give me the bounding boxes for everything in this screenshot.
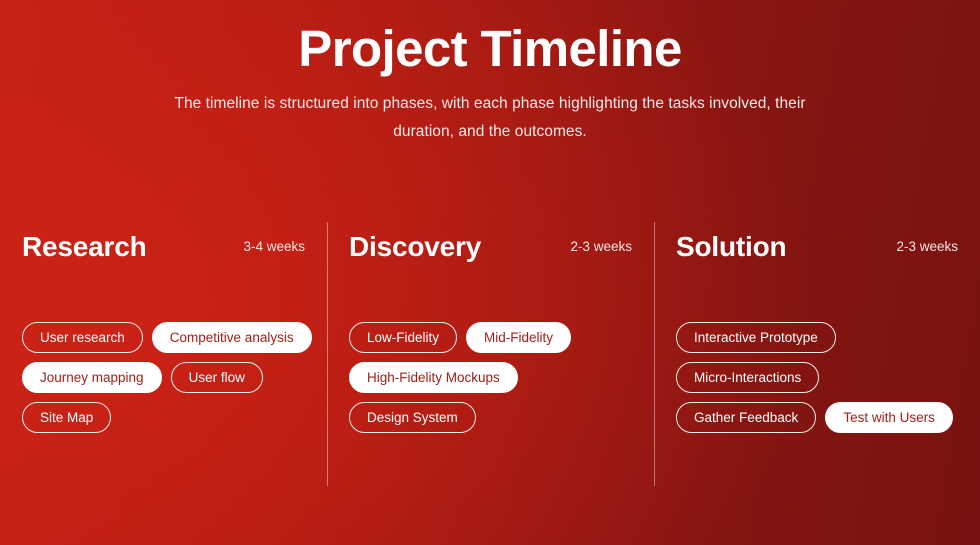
column-divider bbox=[327, 222, 328, 486]
timeline-canvas: Project Timeline The timeline is structu… bbox=[0, 0, 980, 545]
phase-header: Research3-4 weeks bbox=[22, 230, 305, 264]
task-tag-list: Low-FidelityMid-FidelityHigh-Fidelity Mo… bbox=[349, 322, 644, 442]
phase-column-research: Research3-4 weeksUser researchCompetitiv… bbox=[0, 206, 327, 481]
task-tag-row: High-Fidelity Mockups bbox=[349, 362, 644, 393]
task-tag-micro-interactions[interactable]: Micro-Interactions bbox=[676, 362, 819, 393]
task-tag-row: Gather FeedbackTest with Users bbox=[676, 402, 970, 433]
task-tag-list: Interactive PrototypeMicro-InteractionsG… bbox=[676, 322, 970, 442]
task-tag-high-fidelity-mockups[interactable]: High-Fidelity Mockups bbox=[349, 362, 518, 393]
task-tag-journey-mapping[interactable]: Journey mapping bbox=[22, 362, 162, 393]
task-tag-low-fidelity[interactable]: Low-Fidelity bbox=[349, 322, 457, 353]
phase-duration: 2-3 weeks bbox=[570, 237, 632, 257]
task-tag-mid-fidelity[interactable]: Mid-Fidelity bbox=[466, 322, 571, 353]
phase-title: Research bbox=[22, 230, 146, 264]
task-tag-test-with-users[interactable]: Test with Users bbox=[825, 402, 953, 433]
phase-header: Solution2-3 weeks bbox=[676, 230, 958, 264]
phase-duration: 2-3 weeks bbox=[896, 237, 958, 257]
phase-header: Discovery2-3 weeks bbox=[349, 230, 632, 264]
phase-duration: 3-4 weeks bbox=[243, 237, 305, 257]
task-tag-row: Interactive Prototype bbox=[676, 322, 970, 353]
task-tag-user-research[interactable]: User research bbox=[22, 322, 143, 353]
task-tag-gather-feedback[interactable]: Gather Feedback bbox=[676, 402, 816, 433]
task-tag-user-flow[interactable]: User flow bbox=[171, 362, 263, 393]
phase-title: Solution bbox=[676, 230, 786, 264]
page-header: Project Timeline The timeline is structu… bbox=[0, 0, 980, 145]
column-divider bbox=[654, 222, 655, 486]
task-tag-row: Design System bbox=[349, 402, 644, 433]
task-tag-row: Low-FidelityMid-Fidelity bbox=[349, 322, 644, 353]
task-tag-site-map[interactable]: Site Map bbox=[22, 402, 111, 433]
page-subtitle: The timeline is structured into phases, … bbox=[145, 77, 835, 145]
phase-title: Discovery bbox=[349, 230, 481, 264]
task-tag-design-system[interactable]: Design System bbox=[349, 402, 476, 433]
phase-column-discovery: Discovery2-3 weeksLow-FidelityMid-Fideli… bbox=[327, 206, 654, 481]
task-tag-list: User researchCompetitive analysisJourney… bbox=[22, 322, 317, 442]
task-tag-interactive-prototype[interactable]: Interactive Prototype bbox=[676, 322, 836, 353]
task-tag-row: User researchCompetitive analysis bbox=[22, 322, 317, 353]
task-tag-row: Micro-Interactions bbox=[676, 362, 970, 393]
task-tag-row: Journey mappingUser flow bbox=[22, 362, 317, 393]
task-tag-row: Site Map bbox=[22, 402, 317, 433]
task-tag-competitive-analysis[interactable]: Competitive analysis bbox=[152, 322, 312, 353]
page-title: Project Timeline bbox=[0, 0, 980, 77]
phase-columns: Research3-4 weeksUser researchCompetitiv… bbox=[0, 206, 980, 481]
phase-column-solution: Solution2-3 weeksInteractive PrototypeMi… bbox=[654, 206, 980, 481]
